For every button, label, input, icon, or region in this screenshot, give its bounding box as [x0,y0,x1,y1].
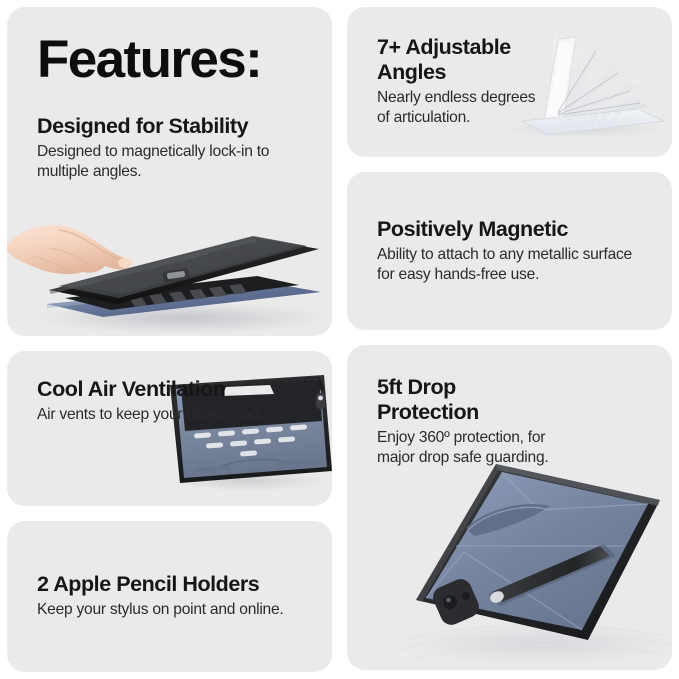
feature-body-stability: Designed to magnetically lock-in to mult… [37,142,304,183]
right-column: 7+ Adjustable Angles Nearly endless degr… [347,7,672,672]
feature-card-adjustable-angles: 7+ Adjustable Angles Nearly endless degr… [347,7,672,157]
feature-heading-angles: 7+ Adjustable Angles [377,35,547,85]
page-title: Features: [37,33,304,86]
feature-heading-ventilation: Cool Air Ventilation [37,377,332,402]
feature-heading-drop: 5ft Drop Protection [377,375,552,425]
hand-adjusting-tablet-case-photo [7,186,332,336]
feature-card-positively-magnetic: Positively Magnetic Ability to attach to… [347,172,672,330]
feature-body-magnetic: Ability to attach to any metallic surfac… [377,245,642,286]
feature-body-angles: Nearly endless degrees of articulation. [377,88,547,129]
feature-body-drop: Enjoy 360º protection, for major drop sa… [377,428,552,469]
feature-heading-pencil: 2 Apple Pencil Holders [37,572,302,597]
features-board: Features: Designed for Stability Designe… [0,0,679,679]
feature-card-drop-protection: 5ft Drop Protection Enjoy 360º protectio… [347,345,672,670]
feature-heading-magnetic: Positively Magnetic [377,217,642,242]
feature-card-designed-for-stability: Features: Designed for Stability Designe… [7,7,332,336]
feature-body-pencil: Keep your stylus on point and online. [37,600,302,620]
feature-body-ventilation: Air vents to keep your device cool. [37,405,332,425]
feature-card-apple-pencil-holders: 2 Apple Pencil Holders Keep your stylus … [7,521,332,672]
feature-card-cool-air-ventilation: Cool Air Ventilation Air vents to keep y… [7,351,332,506]
feature-heading-stability: Designed for Stability [37,114,304,139]
left-column: Features: Designed for Stability Designe… [7,7,332,672]
